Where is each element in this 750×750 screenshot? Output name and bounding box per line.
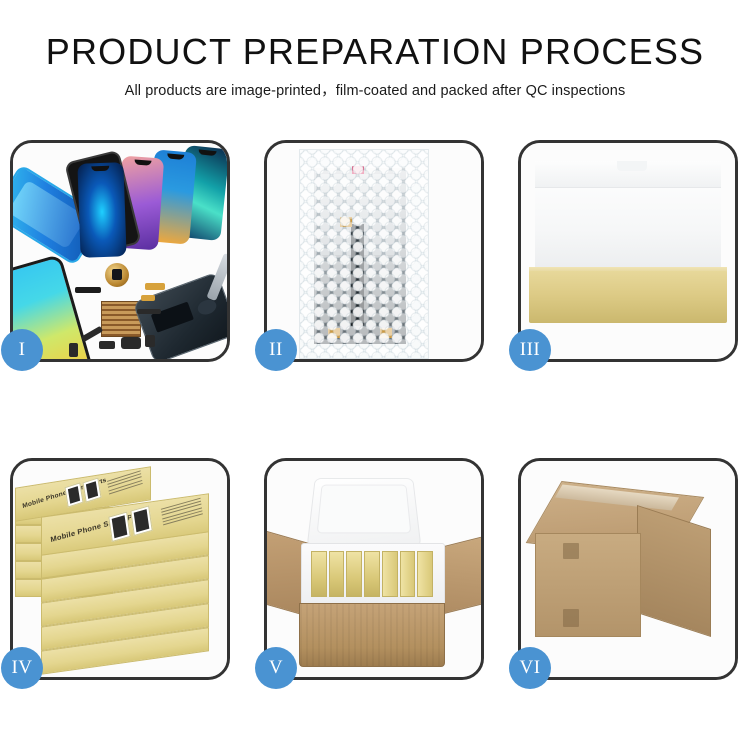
antenna-cable-icon — [137, 309, 161, 314]
box-item — [382, 551, 398, 597]
box-thumb-icon — [108, 512, 130, 543]
box-item — [417, 551, 433, 597]
step-3-image — [521, 143, 735, 359]
gold-flex-icon — [145, 283, 165, 290]
step-2-badge: II — [255, 329, 297, 371]
stacked-boxes-illustration: Mobile Phone Spare Parts Mobile Phone Sp… — [13, 467, 227, 677]
carton-tab-lower-icon — [563, 609, 579, 627]
step-4-badge: IV — [1, 647, 43, 689]
box-item — [364, 551, 380, 597]
page-header: PRODUCT PREPARATION PROCESS All products… — [0, 0, 750, 102]
shipping-carton-body-icon — [299, 603, 445, 667]
kraft-tray-box-icon — [529, 271, 727, 323]
box-thumb-icon — [130, 505, 152, 536]
process-step-1[interactable]: I — [10, 140, 230, 362]
speaker-coil-icon — [105, 263, 129, 287]
step-5-badge: V — [255, 647, 297, 689]
carton-front-face-icon — [535, 533, 641, 637]
phones-and-parts-illustration — [13, 143, 227, 359]
phone-screen-blue-icon — [77, 162, 126, 258]
vibration-motor-icon — [145, 335, 155, 347]
process-step-6[interactable]: VI — [518, 458, 738, 680]
earpiece-speaker-icon — [75, 287, 101, 293]
box-item — [346, 551, 362, 597]
step-3-badge: III — [509, 329, 551, 371]
step-5-image — [267, 461, 481, 677]
box-spec-lines — [107, 470, 143, 496]
box-item — [311, 551, 327, 597]
step-4-image: Mobile Phone Spare Parts Mobile Phone Sp… — [13, 461, 227, 677]
foam-lid-open-icon — [307, 478, 422, 547]
box-spec-lines — [161, 498, 203, 528]
bubble-wrap-bag — [299, 149, 429, 359]
gold-contact-icon — [141, 295, 155, 301]
step-6-image — [521, 461, 735, 677]
box-item — [400, 551, 416, 597]
process-step-3[interactable]: III — [518, 140, 738, 362]
step-1-image — [13, 143, 227, 359]
process-step-4[interactable]: Mobile Phone Spare Parts Mobile Phone Sp… — [10, 458, 230, 680]
yellow-boxes-inside — [311, 551, 433, 597]
box-thumb-icon — [64, 482, 83, 507]
process-step-grid: I II — [10, 140, 738, 680]
bubble-texture-overlay — [300, 150, 428, 358]
page-title: PRODUCT PREPARATION PROCESS — [0, 30, 750, 74]
step-1-badge: I — [1, 329, 43, 371]
step-2-image — [267, 143, 481, 359]
sim-tray-icon — [69, 343, 78, 357]
carton-side-face-icon — [637, 505, 711, 637]
product-preparation-page: PRODUCT PREPARATION PROCESS All products… — [0, 0, 750, 750]
carton-tab-upper-icon — [563, 543, 579, 559]
flex-cable-icon — [81, 326, 103, 342]
box-item — [329, 551, 345, 597]
process-step-2[interactable]: II — [264, 140, 484, 362]
process-step-5[interactable]: V — [264, 458, 484, 680]
page-subtitle: All products are image-printed，film-coat… — [0, 80, 750, 102]
step-6-badge: VI — [509, 647, 551, 689]
small-connector-icon — [99, 341, 115, 349]
box-thumb-icon — [82, 477, 101, 502]
taptic-engine-icon — [121, 337, 141, 349]
